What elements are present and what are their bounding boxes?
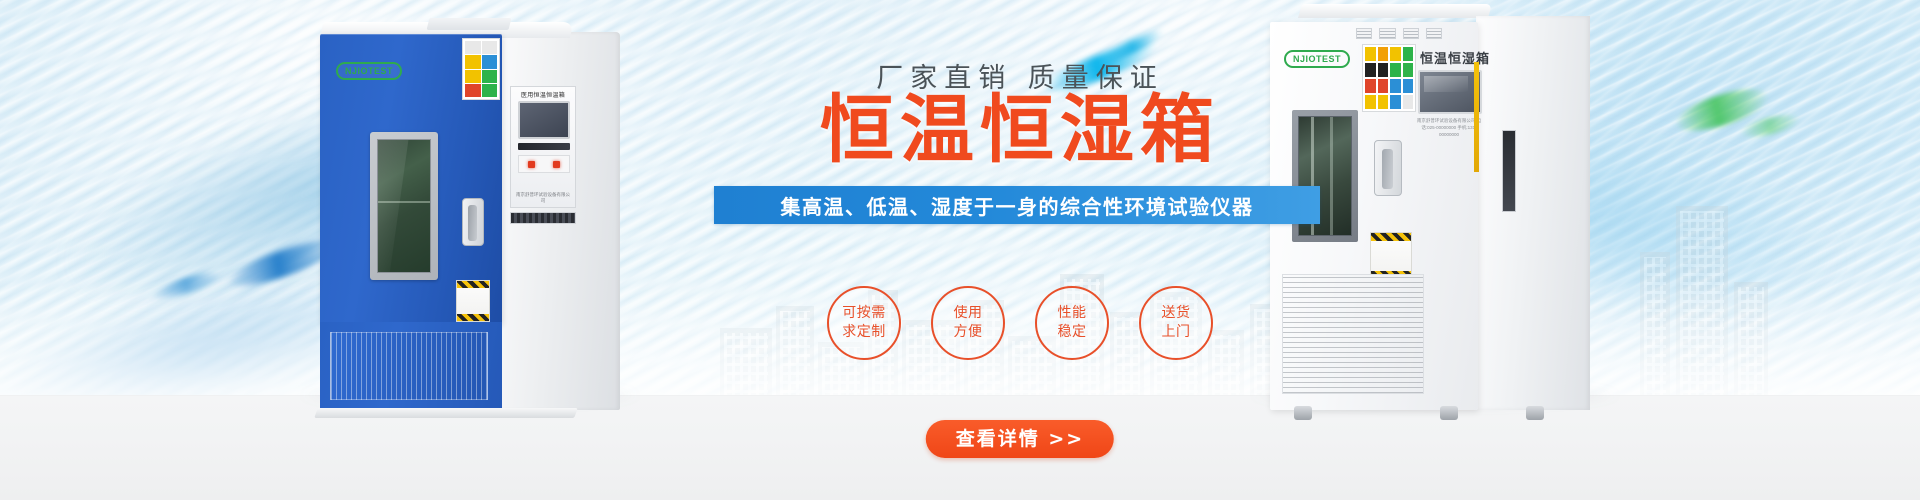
- indicator-led: [553, 161, 560, 168]
- left-chamber-top-cap: [427, 18, 512, 30]
- view-details-button[interactable]: 查看详情 >>: [926, 420, 1114, 458]
- badge-line-2: 方便: [954, 323, 983, 342]
- right-chamber-caution-plate: [1370, 232, 1412, 280]
- right-chamber-warning-stickers: [1362, 44, 1416, 112]
- left-chamber-warning-labels: [462, 38, 500, 100]
- left-chamber-button-row: [510, 212, 576, 224]
- marketing-copy-block: 厂家直销 质量保证 恒温恒湿箱 集高温、低温、湿度于一身的综合性环境试验仪器 可…: [700, 0, 1340, 500]
- right-chamber-side-display: [1502, 130, 1516, 212]
- right-chamber-model-title: 恒温恒湿箱: [1420, 48, 1490, 67]
- subtitle-bar: 集高温、低温、湿度于一身的综合性环境试验仪器: [714, 186, 1320, 224]
- feature-badge-easy-use[interactable]: 使用 方便: [931, 286, 1005, 360]
- left-chamber-vent-grille: [330, 332, 488, 400]
- left-chamber-brand-logo: NJIOTEST: [336, 62, 402, 80]
- badge-line-1: 可按需: [842, 304, 886, 323]
- left-chamber-viewport: [370, 132, 438, 280]
- badge-line-2: 求定制: [842, 323, 886, 342]
- promo-banner: NJIOTEST 医用恒温恒温箱 南京舒普环试验设备有限公司: [0, 0, 1920, 500]
- left-chamber-caution-plate: [456, 280, 490, 322]
- left-chamber-panel-strip: [518, 143, 570, 150]
- left-chamber-lower-cabinet: [320, 322, 502, 410]
- left-chamber-panel-title: 医用恒温恒温箱: [511, 90, 575, 99]
- right-chamber-touchscreen: [1418, 70, 1482, 114]
- right-chamber-caster: [1440, 406, 1458, 420]
- badge-line-2: 上门: [1162, 323, 1191, 342]
- right-chamber-top-vents: [1356, 26, 1442, 40]
- right-chamber-door-handle: [1374, 140, 1402, 196]
- left-chamber-panel-screen: [518, 101, 570, 139]
- right-chamber-caster: [1526, 406, 1544, 420]
- left-chamber-control-panel: 医用恒温恒温箱 南京舒普环试验设备有限公司: [510, 86, 576, 208]
- left-chamber-panel-footnote: 南京舒普环试验设备有限公司: [515, 192, 571, 204]
- right-chamber-yellow-edge: [1474, 62, 1479, 172]
- feature-badge-custom[interactable]: 可按需 求定制: [827, 286, 901, 360]
- badge-line-1: 性能: [1058, 304, 1087, 323]
- indicator-led: [528, 161, 535, 168]
- page-title: 恒温恒湿箱: [700, 88, 1340, 172]
- feature-badge-delivery[interactable]: 送货 上门: [1139, 286, 1213, 360]
- product-image-left-blue-chamber: NJIOTEST 医用恒温恒温箱 南京舒普环试验设备有限公司: [320, 22, 620, 410]
- badge-line-2: 稳定: [1058, 323, 1087, 342]
- left-chamber-glass: [377, 139, 431, 273]
- feature-badge-group: 可按需 求定制 使用 方便 性能 稳定 送货 上门: [700, 286, 1340, 360]
- right-chamber-side-panel: [1476, 16, 1590, 410]
- badge-line-1: 使用: [954, 304, 983, 323]
- left-chamber-door-handle: [462, 198, 484, 246]
- feature-badge-stable-performance[interactable]: 性能 稳定: [1035, 286, 1109, 360]
- subtitle-text: 集高温、低温、湿度于一身的综合性环境试验仪器: [781, 191, 1254, 220]
- left-chamber-indicator-lights: [518, 155, 570, 173]
- left-chamber-base-plinth: [314, 408, 578, 418]
- badge-line-1: 送货: [1162, 304, 1191, 323]
